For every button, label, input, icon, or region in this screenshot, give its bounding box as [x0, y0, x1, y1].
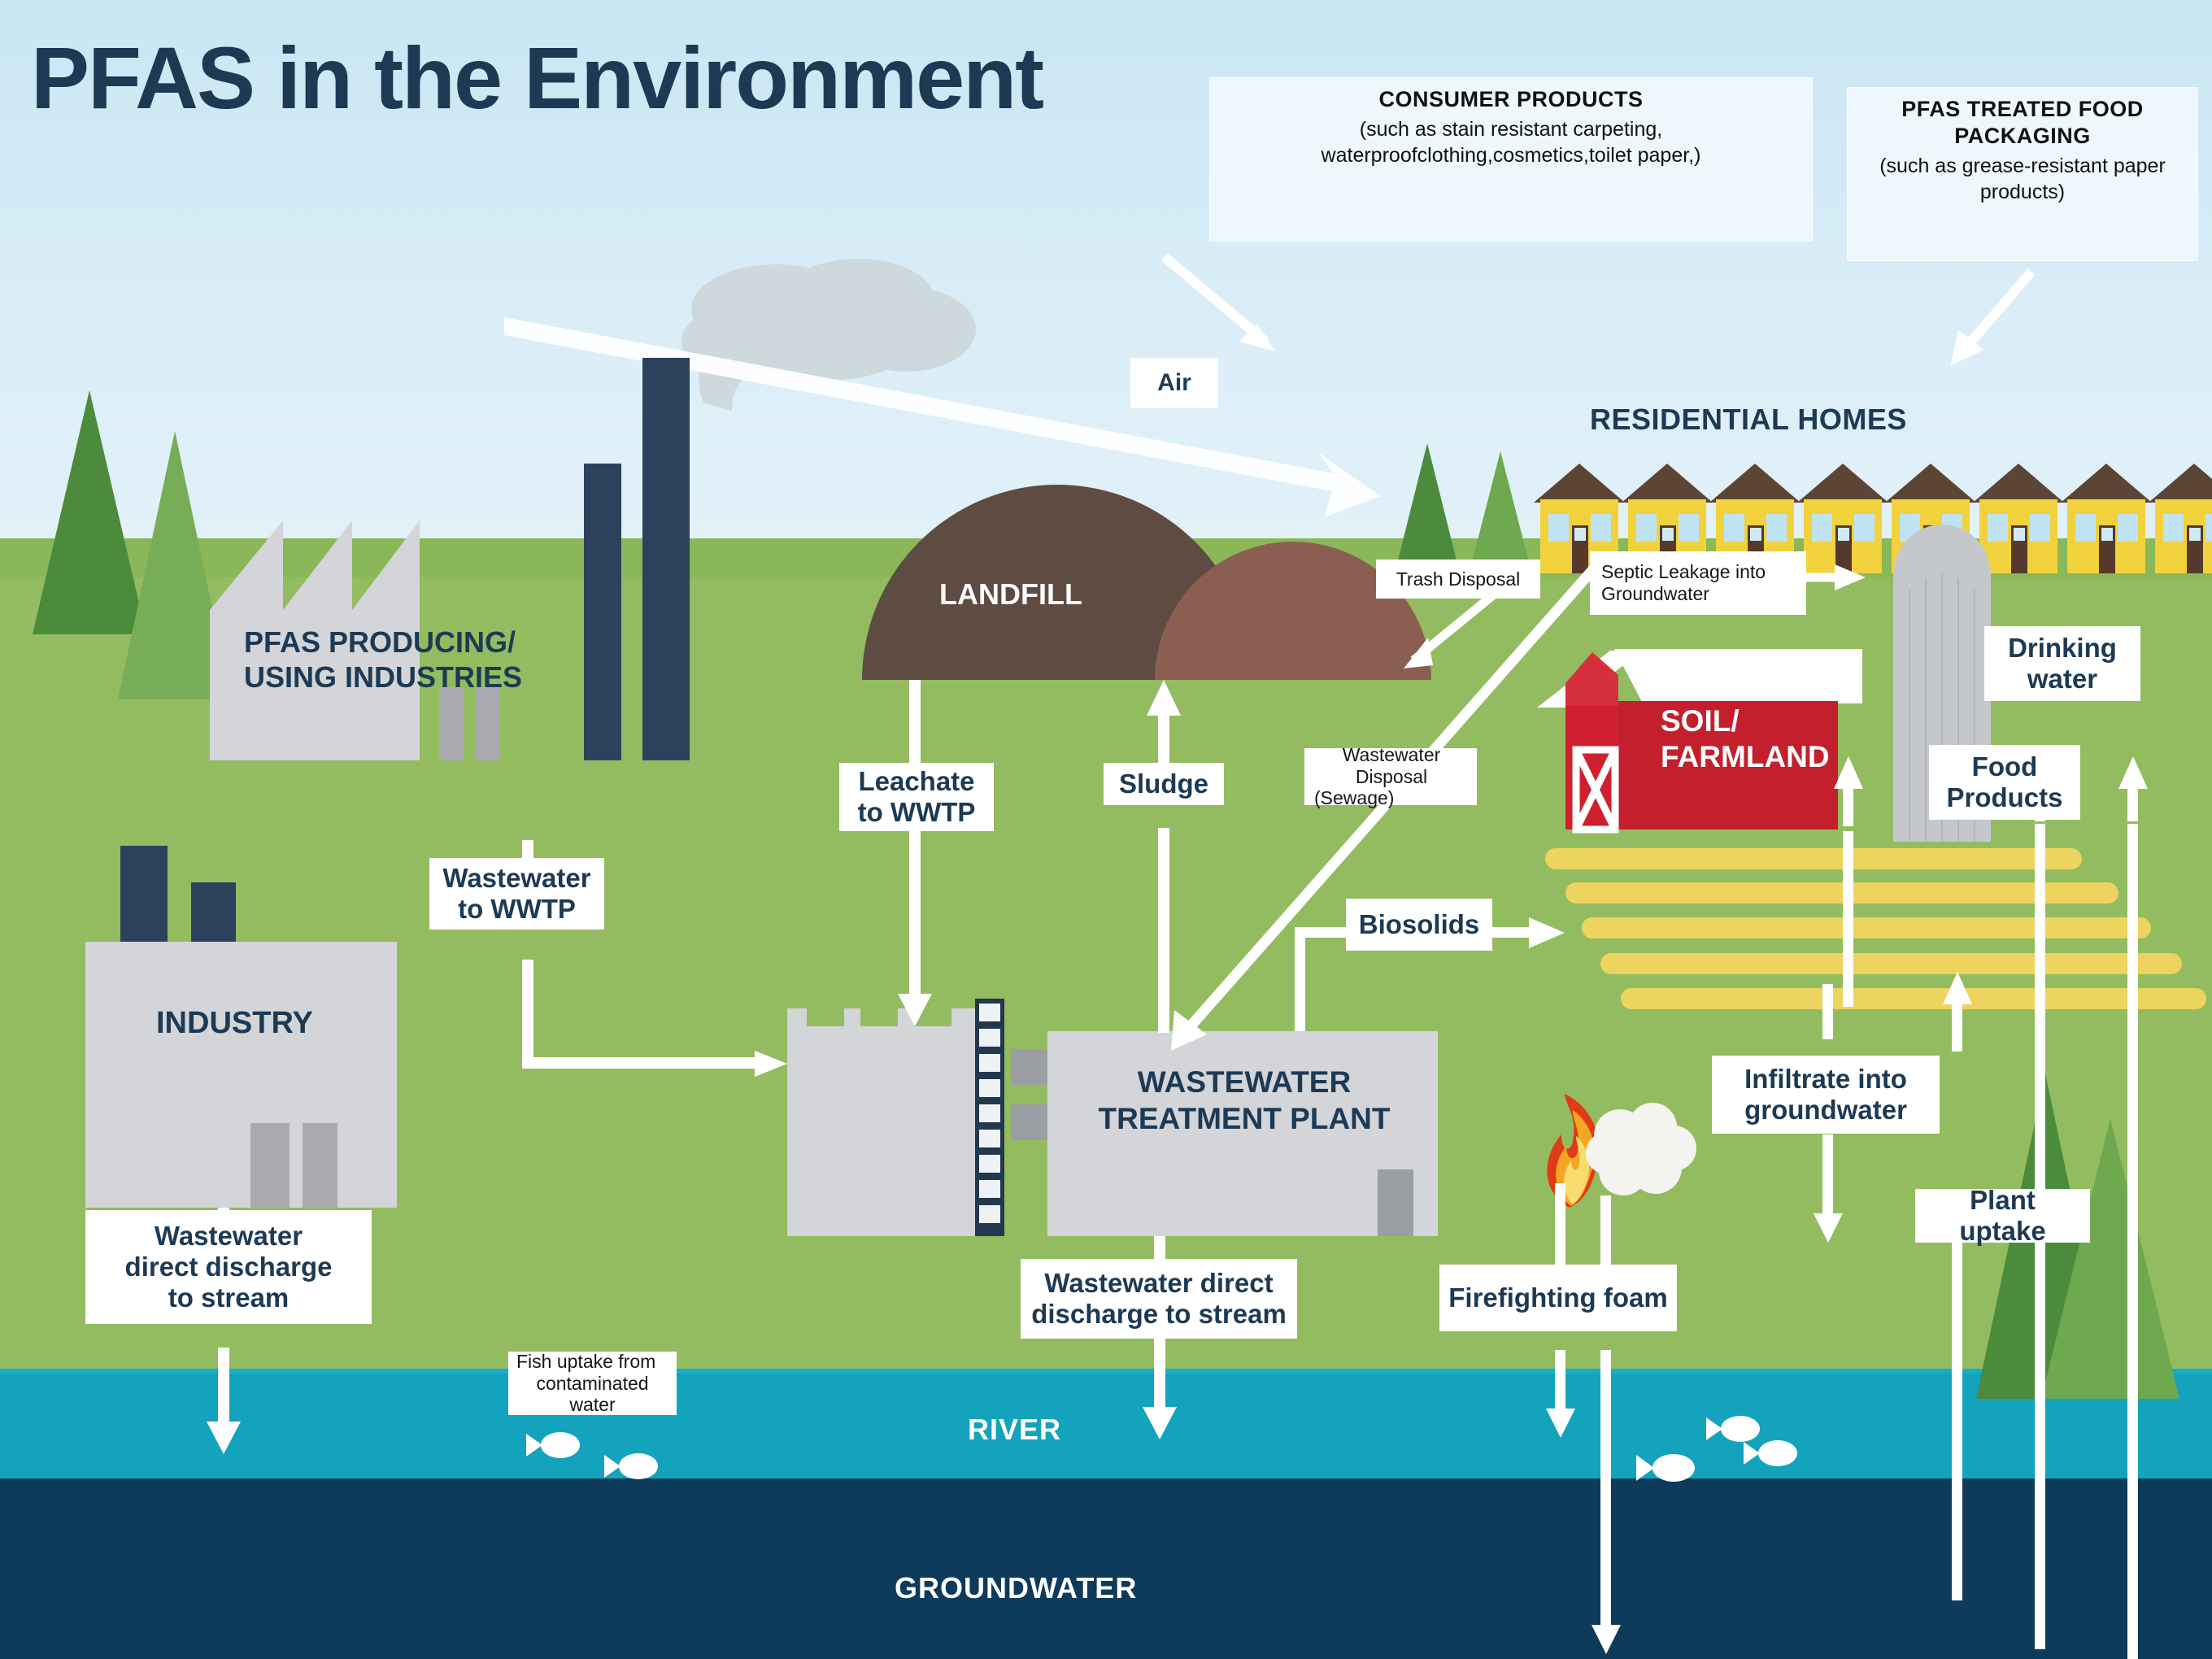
crop-row-1 — [1545, 848, 2082, 869]
arrow-foam-right-top — [1600, 1195, 1611, 1265]
wwtp-label-line2: TREATMENT PLANT — [1094, 1100, 1395, 1137]
arrowhead-industry-discharge — [202, 1422, 246, 1461]
arrow-leachate-vert2 — [909, 828, 921, 1000]
arrowhead-to-wwtp — [755, 1046, 790, 1082]
arrow-food-packaging-connector — [1945, 268, 2092, 390]
industry-label: INDUSTRY — [156, 1006, 313, 1041]
label-air: Air — [1130, 358, 1218, 408]
callout-food-packaging: PFAS TREATED FOOD PACKAGING (such as gre… — [1848, 88, 2197, 260]
label-wastewater-direct-discharge-wwtp: Wastewater direct discharge to stream — [1021, 1259, 1297, 1339]
arrow-industry-to-wwtp-horiz — [522, 1057, 760, 1069]
callout-food-packaging-heading: PFAS TREATED FOOD PACKAGING — [1859, 96, 2186, 150]
callout-food-packaging-detail: (such as grease-resistant paper products… — [1859, 153, 2186, 205]
arrowhead-food-products — [1830, 756, 1867, 794]
infographic-canvas: PFAS PRODUCING/ USING INDUSTRIES LANDFIL… — [0, 0, 2212, 1659]
arrow-food-products-upper — [1843, 789, 1853, 826]
arrow-infiltrate-top — [1822, 984, 1833, 1039]
label-food-products: Food Products — [1929, 745, 2080, 820]
wwtp-label-line1: WASTEWATER — [1094, 1064, 1395, 1100]
arrowhead-wwtp-discharge — [1138, 1407, 1182, 1446]
label-wastewater-to-wwtp: Wastewater to WWTP — [429, 858, 604, 930]
crop-row-4 — [1600, 953, 2182, 974]
callout-consumer-products-heading: CONSUMER PRODUCTS — [1221, 86, 1801, 113]
label-infiltrate-into-groundwater: Infiltrate into groundwater — [1712, 1056, 1940, 1134]
label-ww-to-wwtp-line2: to WWTP — [458, 894, 576, 925]
wwtp-ladder-rungs — [978, 1002, 1001, 1233]
label-wwdd-plant-line2: discharge to stream — [1031, 1299, 1287, 1330]
arrow-wwtp-discharge-vert2 — [1154, 1335, 1165, 1417]
arrowhead-plant-uptake — [1939, 972, 1976, 1009]
label-leachate-line1: Leachate — [858, 766, 974, 797]
arrow-foam-right-bottom — [1600, 1350, 1611, 1635]
label-ww-to-wwtp-line1: Wastewater — [442, 863, 590, 894]
label-fish-line2: contaminated water — [516, 1373, 668, 1416]
river-band — [0, 1369, 2212, 1478]
barn-label-line2: FARMLAND — [1661, 739, 1830, 775]
arrowhead-leachate — [893, 994, 937, 1033]
arrow-food-products-lower — [1843, 831, 1853, 1007]
tree-right-light — [2041, 1118, 2204, 1399]
pfas-industry-label-line1: PFAS PRODUCING/ — [244, 625, 522, 660]
label-plant-uptake: Plant uptake — [1915, 1189, 2090, 1243]
pfas-industry-label-line2: USING INDUSTRIES — [244, 660, 522, 695]
label-drinking-water: Drinking water — [1984, 626, 2140, 701]
label-wwdd-plant-line1: Wastewater direct — [1044, 1268, 1273, 1299]
label-wastewater-disposal-line2: (Sewage) — [1314, 787, 1394, 809]
pfas-industry-label: PFAS PRODUCING/ USING INDUSTRIES — [244, 625, 522, 695]
label-wwdd-ind-line3: to stream — [168, 1282, 290, 1313]
page-title: PFAS in the Environment — [31, 34, 1043, 122]
label-wastewater-disposal-line1: Wastewater Disposal — [1314, 744, 1469, 787]
arrow-infiltrate-bottom — [1822, 1134, 1833, 1222]
smokestack-short — [584, 464, 621, 760]
arrowhead-drinking-water-b — [2114, 756, 2152, 794]
arrow-plant-uptake-lower — [1952, 1243, 1962, 1600]
label-infiltrate-line2: groundwater — [1744, 1095, 1907, 1126]
label-drinking-line1: Drinking — [2008, 633, 2117, 664]
label-food-line2: Products — [1946, 782, 2062, 813]
label-leachate-to-wwtp: Leachate to WWTP — [839, 763, 994, 831]
label-wwdd-ind-line1: Wastewater — [155, 1221, 303, 1252]
crop-row-3 — [1582, 917, 2151, 938]
arrow-industry-to-wwtp-vert2 — [522, 960, 533, 1069]
residential-homes-label: RESIDENTIAL HOMES — [1590, 403, 1907, 437]
groundwater-caption: GROUNDWATER — [895, 1571, 1137, 1605]
crop-row-5 — [1621, 988, 2206, 1009]
fish-right-group — [1635, 1411, 1797, 1492]
landfill-label: LANDFILL — [939, 577, 1082, 612]
label-fish-line1: Fish uptake from — [516, 1351, 655, 1373]
arrowhead-foam-left — [1542, 1409, 1579, 1444]
label-firefighting-foam: Firefighting foam — [1439, 1265, 1677, 1331]
industry-door-right — [303, 1123, 337, 1208]
label-septic-leakage: Septic Leakage into Groundwater — [1590, 551, 1806, 615]
label-sludge: Sludge — [1104, 763, 1224, 805]
label-wastewater-disposal: Wastewater Disposal (Sewage) — [1304, 748, 1477, 805]
barn-label-line1: SOIL/ — [1661, 703, 1830, 739]
arrowhead-foam-right-groundwater — [1587, 1625, 1625, 1659]
label-wwdd-ind-line2: direct discharge — [125, 1252, 333, 1282]
foam-cloud-icon — [1578, 1098, 1700, 1204]
industry-door-left — [250, 1123, 290, 1208]
callout-consumer-products-detail: (such as stain resistant carpeting, wate… — [1221, 116, 1801, 168]
arrow-foam-left-top — [1555, 1183, 1565, 1265]
river-caption: RIVER — [968, 1413, 1061, 1447]
arrow-biosolids-horiz2 — [1485, 927, 1534, 938]
label-leachate-line2: to WWTP — [858, 797, 976, 828]
wwtp-main-door — [1378, 1169, 1413, 1236]
label-fish-uptake: Fish uptake from contaminated water — [508, 1352, 677, 1415]
arrowhead-infiltrate — [1809, 1213, 1847, 1249]
arrow-drinking-water-b-upper — [2127, 789, 2138, 821]
wwtp-tank-building — [787, 1008, 999, 1236]
label-trash-disposal: Trash Disposal — [1376, 560, 1540, 599]
arrow-drinking-water-b-lower — [2127, 824, 2138, 1659]
label-infiltrate-line1: Infiltrate into — [1744, 1064, 1907, 1095]
arrow-industry-discharge-vert2 — [218, 1348, 229, 1433]
wwtp-tank-roof-notch-1 — [807, 1008, 844, 1026]
pfas-industry-door-right — [476, 687, 500, 760]
barn-label: SOIL/ FARMLAND — [1661, 703, 1830, 776]
industry-building — [85, 942, 397, 1208]
arrow-leachate-vert1 — [909, 680, 921, 765]
arrow-foam-left-bottom — [1555, 1350, 1565, 1417]
label-food-line1: Food — [1972, 751, 2038, 782]
label-biosolids: Biosolids — [1346, 899, 1492, 951]
smokestack-tall — [642, 358, 690, 760]
label-septic-leakage-line2: Groundwater — [1601, 583, 1709, 605]
groundwater-band — [0, 1478, 2212, 1659]
label-drinking-line2: water — [2027, 664, 2097, 695]
pfas-industry-door-left — [439, 687, 464, 760]
wwtp-label: WASTEWATER TREATMENT PLANT — [1094, 1064, 1395, 1137]
label-wastewater-direct-discharge-industry: Wastewater direct discharge to stream — [85, 1210, 372, 1324]
label-septic-leakage-line1: Septic Leakage into — [1601, 561, 1766, 583]
industry-stack-tall — [120, 846, 168, 951]
river-surface-edge — [0, 1369, 2212, 1374]
callout-consumer-products: CONSUMER PRODUCTS (such as stain resista… — [1210, 78, 1812, 241]
arrowhead-biosolids — [1529, 914, 1568, 951]
fish-left-group — [525, 1427, 671, 1484]
arrow-biosolids-vert — [1295, 927, 1305, 1031]
arrow-plant-uptake-upper — [1952, 1004, 1962, 1052]
